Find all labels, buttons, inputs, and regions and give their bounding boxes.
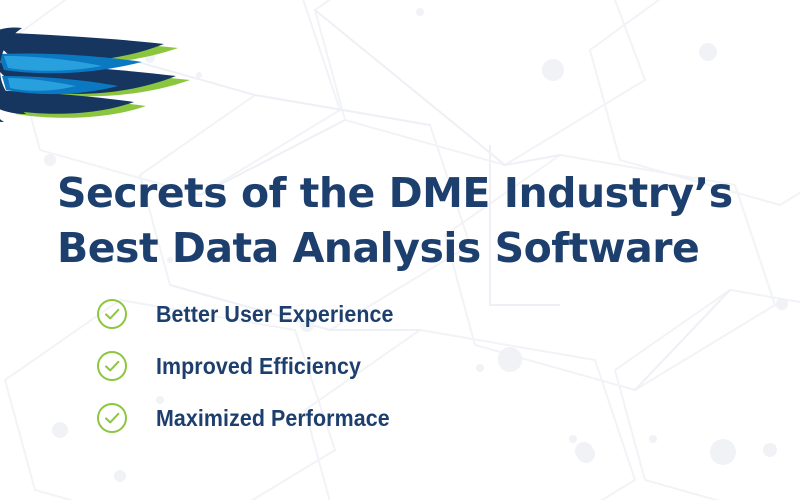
benefit-label: Maximized Performace [156,405,390,432]
check-circle-icon [96,350,128,382]
headline-line-2: Best Data Analysis Software [57,221,777,276]
benefit-label: Better User Experience [156,301,393,328]
wing-feather-logo [0,18,212,128]
headline-line-1: Secrets of the DME Industry’s [57,166,777,221]
page-title: Secrets of the DME Industry’s Best Data … [57,166,777,276]
check-circle-icon [96,298,128,330]
list-item: Better User Experience [96,288,411,340]
list-item: Improved Efficiency [96,340,411,392]
check-circle-icon [96,402,128,434]
promo-banner: Secrets of the DME Industry’s Best Data … [0,0,800,500]
benefit-label: Improved Efficiency [156,353,361,380]
benefit-list: Better User Experience Improved Efficien… [96,288,411,444]
list-item: Maximized Performace [96,392,411,444]
